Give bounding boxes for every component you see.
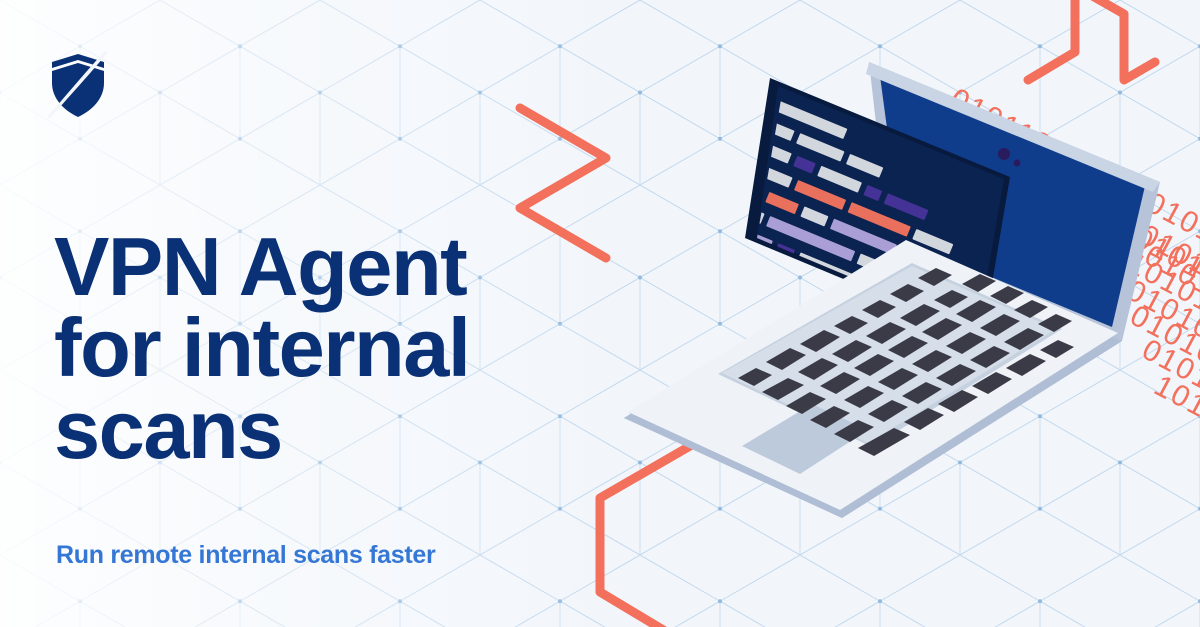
webcam-dot-small [1014,160,1021,167]
headline-line-2: for internal [54,307,614,388]
webcam-dot-large [998,148,1010,160]
marketing-banner: 01011010100101010101010101010 0101010100… [0,0,1200,627]
page-title: VPN Agent for internal scans [54,226,614,470]
headline-line-1: VPN Agent [54,226,614,307]
shield-swoosh-logo [48,50,110,120]
page-subtitle: Run remote internal scans faster [56,541,435,570]
headline-line-3: scans [54,389,614,470]
